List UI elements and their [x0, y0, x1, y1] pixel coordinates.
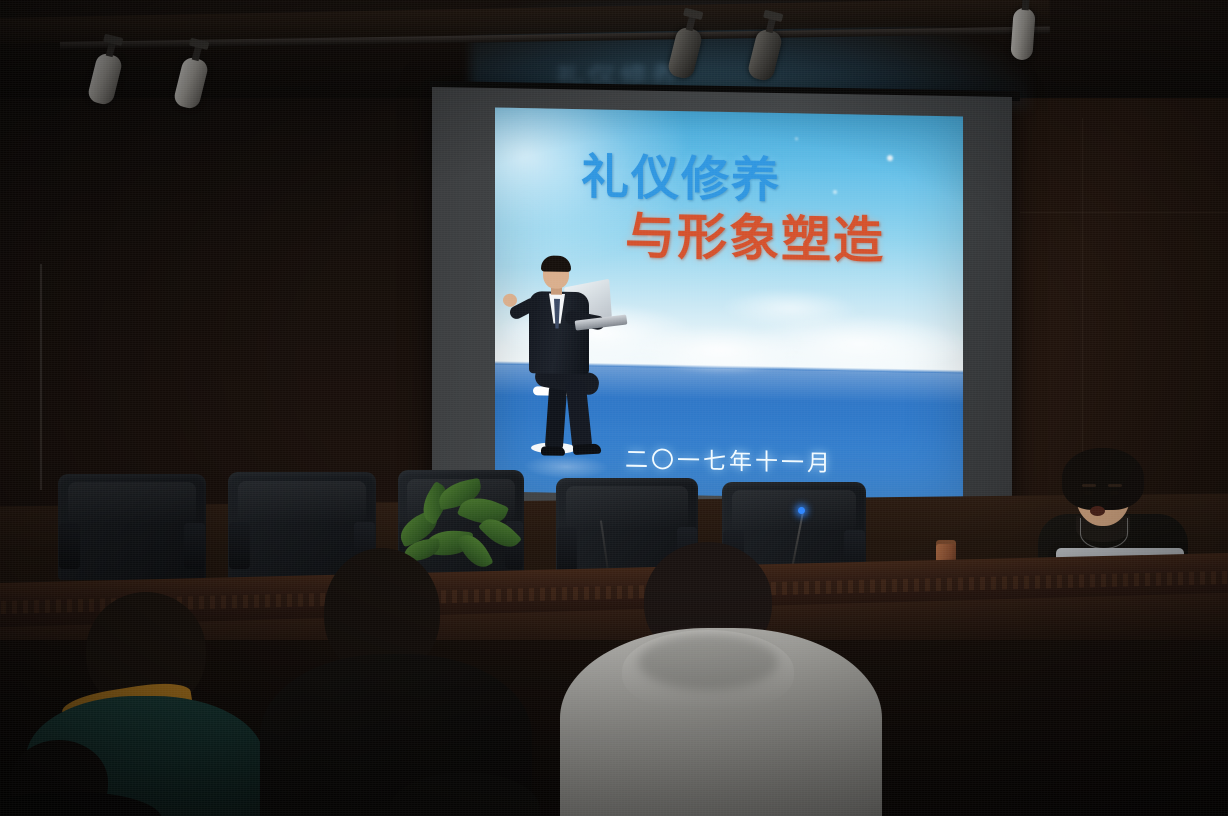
presenter-brow-left [1082, 484, 1096, 487]
presenter-eye-left [1084, 491, 1093, 495]
conference-room-scene: 礼仪修养 [0, 0, 1228, 816]
slide-sparkle-1 [887, 155, 893, 161]
slide-title-line-2: 与形象塑造 [625, 196, 885, 273]
slide-figure-left-hand [503, 294, 517, 307]
projected-slide: 礼仪修养 与形象塑造 二〇一七年十一月 [495, 108, 963, 501]
slide-sparkle-3 [795, 137, 798, 140]
audience-member-4 [0, 740, 150, 816]
wall-seam-horizontal [1020, 212, 1228, 213]
wall-seam-left-h [0, 228, 420, 229]
spotlight-5-icon [1010, 7, 1036, 60]
audience-member-5 [330, 772, 630, 816]
audience-hood-shadow [638, 634, 778, 690]
stage-chair-1 [58, 474, 206, 580]
flag-pole [40, 264, 42, 490]
presenter-eye-right [1110, 491, 1119, 495]
audience-shoulders [0, 792, 162, 816]
presenter-hair [1062, 448, 1144, 510]
slide-sparkle-2 [833, 190, 837, 194]
presenter-brow-right [1108, 484, 1122, 487]
microphone-led-indicator [798, 507, 805, 514]
presenter-mouth [1090, 506, 1105, 516]
audience-head [390, 772, 540, 816]
